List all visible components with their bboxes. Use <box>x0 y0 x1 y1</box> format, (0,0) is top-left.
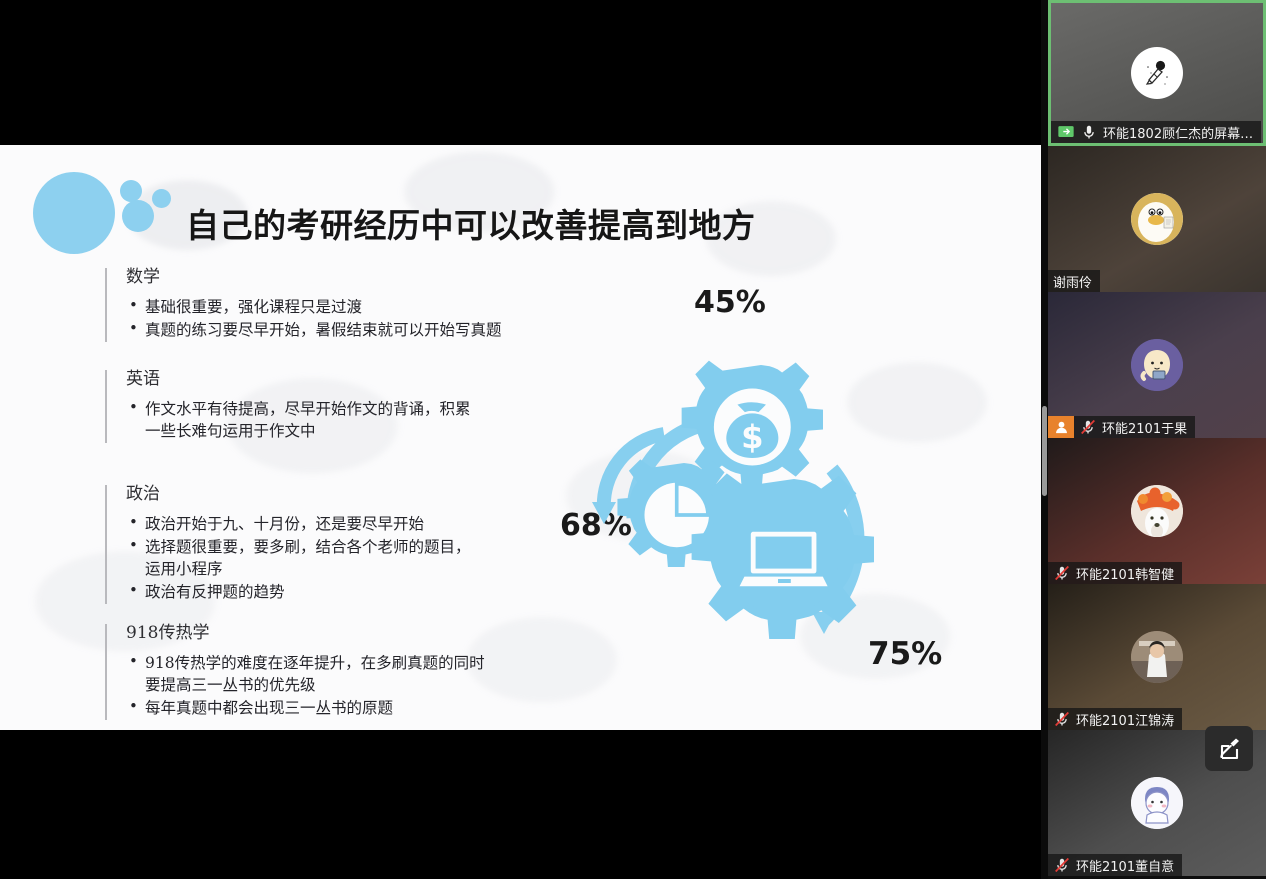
bubble-large-decoration <box>33 172 115 254</box>
avatar <box>1131 193 1183 245</box>
slide-section-918-heat-transfer: 918传热学 918传热学的难度在逐年提升，在多刷真题的同时 要提高三一丛书的优… <box>105 624 485 720</box>
duck-illustration-icon <box>1131 193 1183 245</box>
avatar <box>1131 777 1183 829</box>
microphone-muted-icon <box>1053 564 1071 582</box>
participant-tile-xie-yuling[interactable]: 谢雨伶 <box>1048 146 1266 292</box>
tile-name-bar: 环能2101江锦涛 <box>1048 708 1182 730</box>
participant-name: 环能1802顾仁杰的屏幕… <box>1098 123 1253 142</box>
bullet-item: 918传热学的难度在逐年提升，在多刷真题的同时 要提高三一丛书的优先级 <box>126 652 485 696</box>
slide-section-english: 英语 作文水平有待提高，尽早开始作文的背诵，积累 一些长难句运用于作文中 <box>105 370 471 443</box>
avatar <box>1131 485 1183 537</box>
annotate-button[interactable] <box>1205 726 1253 771</box>
participant-name: 谢雨伶 <box>1048 272 1092 291</box>
section-heading: 数学 <box>126 268 502 287</box>
microphone-muted-icon <box>1053 710 1071 728</box>
person-photo-icon <box>1131 631 1183 683</box>
bullet-item: 政治开始于九、十月份，还是要尽早开始 <box>126 513 471 535</box>
slide-section-politics: 政治 政治开始于九、十月份，还是要尽早开始 选择题很重要，要多刷，结合各个老师的… <box>105 485 471 604</box>
astronaut-icon <box>1137 53 1177 93</box>
section-heading: 918传热学 <box>126 624 485 643</box>
presentation-slide: 自己的考研经历中可以改善提高到地方 数学 基础很重要，强化课程只是过渡 真题的练… <box>0 145 1042 730</box>
participant-tile-hanzhijian[interactable]: 环能2101韩智健 <box>1048 438 1266 584</box>
participant-tile-yuguo[interactable]: 环能2101于果 <box>1048 292 1266 438</box>
participant-tile-jiangjintao[interactable]: 环能2101江锦涛 <box>1048 584 1266 730</box>
bullet-item: 真题的练习要尽早开始，暑假结束就可以开始写真题 <box>126 319 502 341</box>
cartoon-person-phone-icon <box>1131 339 1183 391</box>
percentage-label-45: 45% <box>694 285 766 320</box>
slide-title: 自己的考研经历中可以改善提高到地方 <box>186 199 756 247</box>
section-heading: 英语 <box>126 370 471 389</box>
tile-name-bar: 环能2101韩智健 <box>1048 562 1182 584</box>
participant-name: 环能2101韩智健 <box>1071 564 1174 583</box>
bubble-small-1-decoration <box>120 180 142 202</box>
shared-screen-stage[interactable]: 自己的考研经历中可以改善提高到地方 数学 基础很重要，强化课程只是过渡 真题的练… <box>0 0 1045 879</box>
tile-name-bar: 环能1802顾仁杰的屏幕… <box>1051 121 1261 143</box>
tile-name-bar: 环能2101董自意 <box>1048 854 1182 876</box>
host-badge-icon <box>1048 416 1074 438</box>
bullet-item: 选择题很重要，要多刷，结合各个老师的题目， 运用小程序 <box>126 536 471 580</box>
bubble-small-3-decoration <box>152 189 171 208</box>
bullet-item: 政治有反押题的趋势 <box>126 581 471 603</box>
microphone-muted-icon <box>1053 856 1071 874</box>
participant-list-scrollbar-thumb[interactable] <box>1042 406 1047 496</box>
cartoon-boy-line-art-icon <box>1131 777 1183 829</box>
avatar <box>1131 339 1183 391</box>
avatar <box>1131 47 1183 99</box>
participant-name: 环能2101董自意 <box>1071 856 1174 875</box>
microphone-muted-icon <box>1079 418 1097 436</box>
svg-text:$: $ <box>741 418 763 456</box>
annotate-icon <box>1216 736 1242 762</box>
screen-share-icon <box>1057 123 1075 141</box>
three-gears-infographic: $ <box>586 322 966 662</box>
participant-name: 环能2101于果 <box>1097 418 1187 437</box>
microphone-icon <box>1080 123 1098 141</box>
bullet-item: 作文水平有待提高，尽早开始作文的背诵，积累 一些长难句运用于作文中 <box>126 398 471 442</box>
avatar <box>1131 631 1183 683</box>
bubble-small-2-decoration <box>122 200 154 232</box>
bullet-item: 每年真题中都会出现三一丛书的原题 <box>126 697 485 719</box>
tile-name-bar: 谢雨伶 <box>1048 270 1100 292</box>
slide-section-math: 数学 基础很重要，强化课程只是过渡 真题的练习要尽早开始，暑假结束就可以开始写真… <box>105 268 502 342</box>
participant-tile-screen-share[interactable]: 环能1802顾仁杰的屏幕… <box>1048 0 1266 146</box>
bullet-item: 基础很重要，强化课程只是过渡 <box>126 296 502 318</box>
section-heading: 政治 <box>126 485 471 504</box>
participant-name: 环能2101江锦涛 <box>1071 710 1174 729</box>
dog-flower-crown-icon <box>1131 485 1183 537</box>
tile-name-bar: 环能2101于果 <box>1048 416 1195 438</box>
